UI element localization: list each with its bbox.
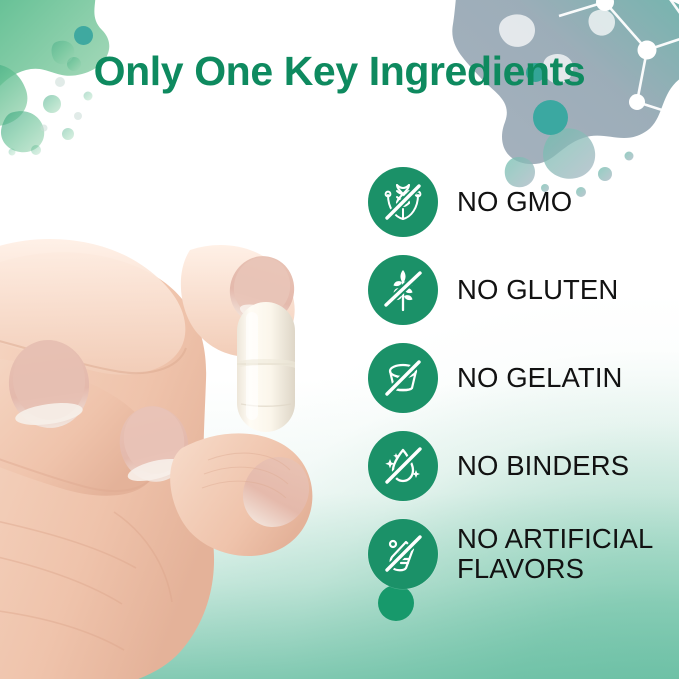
no-gluten-badge — [368, 255, 438, 325]
no-gmo-badge — [368, 167, 438, 237]
no-artificial-flavors-badge — [368, 519, 438, 589]
benefit-label-no-gelatin: NO GELATIN — [457, 363, 623, 393]
benefit-item-no-gluten: NO GLUTEN — [368, 246, 678, 334]
teal-dot-small-icon — [74, 26, 93, 45]
benefit-item-no-gelatin: NO GELATIN — [368, 334, 678, 422]
promo-image-canvas: Only One Key Ingredients — [0, 0, 679, 679]
benefit-label-no-binders: NO BINDERS — [457, 451, 629, 481]
capsule — [237, 302, 295, 432]
no-artificial-flavors-flask-icon — [379, 530, 427, 578]
no-gelatin-badge — [368, 343, 438, 413]
no-gelatin-mold-icon — [379, 354, 427, 402]
no-binders-droplet-icon — [379, 442, 427, 490]
hand-holding-capsule-photo — [0, 212, 342, 679]
no-gluten-wheat-icon — [379, 266, 427, 314]
teal-dot-large-icon — [533, 100, 568, 135]
no-binders-badge — [368, 431, 438, 501]
benefit-item-no-binders: NO BINDERS — [368, 422, 678, 510]
benefit-item-no-artificial-flavors: NO ARTIFICIAL FLAVORS — [368, 510, 678, 598]
benefit-label-no-gmo: NO GMO — [457, 187, 572, 217]
page-title: Only One Key Ingredients — [0, 48, 679, 95]
benefit-item-no-gmo: NO GMO — [368, 158, 678, 246]
no-gmo-dna-icon — [379, 178, 427, 226]
benefit-label-no-artificial-flavors: NO ARTIFICIAL FLAVORS — [457, 524, 653, 583]
benefit-label-no-gluten: NO GLUTEN — [457, 275, 618, 305]
benefits-list: NO GMO — [368, 158, 678, 598]
